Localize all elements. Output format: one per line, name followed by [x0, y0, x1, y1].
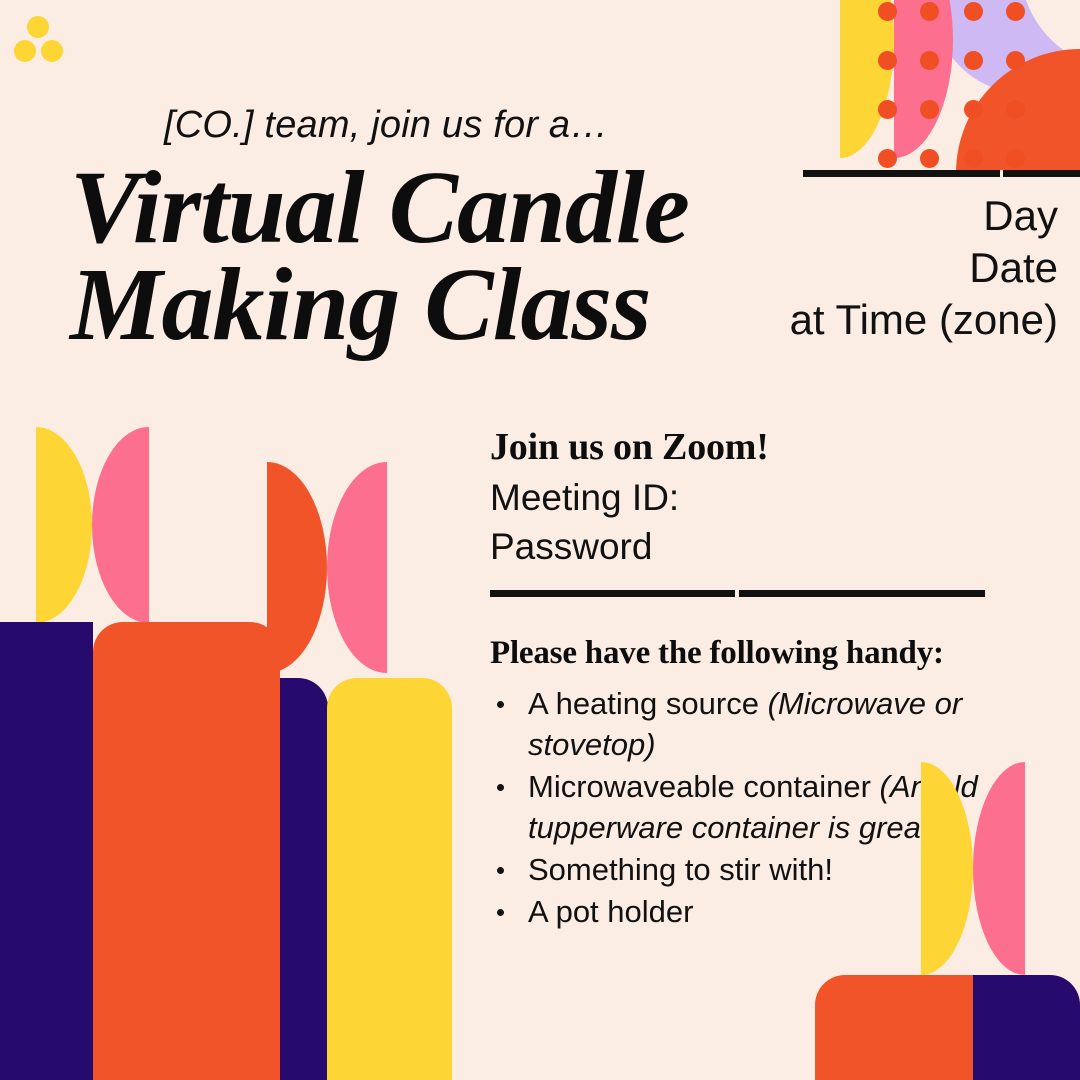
kicker-text: [CO.] team, join us for a…: [164, 104, 608, 147]
section-divider-gap: [735, 590, 739, 597]
candle-body-orange-br: [815, 975, 973, 1080]
grid-dot-icon: [878, 100, 897, 119]
zoom-info-block: Join us on Zoom! Meeting ID: Password: [490, 425, 990, 571]
grid-dot-icon: [964, 51, 983, 70]
grid-dot-icon: [964, 2, 983, 21]
supplies-list: A heating source (Microwave or stovetop)…: [490, 684, 990, 932]
event-date: Date: [790, 242, 1058, 294]
candle-body-orange: [93, 622, 280, 1080]
grid-dot-icon: [878, 51, 897, 70]
candle-body-navy-tall: [0, 622, 93, 1080]
list-item: A heating source (Microwave or stovetop): [490, 684, 990, 766]
supplies-block: Please have the following handy: A heati…: [490, 635, 990, 933]
grid-dot-icon: [964, 149, 983, 168]
grid-dot-icon: [878, 2, 897, 21]
pink-leaf-shape: [894, 0, 953, 158]
grid-dot-icon: [878, 149, 897, 168]
candle-body-yellow: [327, 678, 452, 1080]
candle-flame-second: [267, 462, 387, 673]
grid-dot-icon: [1006, 100, 1025, 119]
logo-dot-bottom-left-icon: [14, 40, 36, 62]
grid-dot-icon: [920, 100, 939, 119]
event-time: at Time (zone): [790, 294, 1058, 346]
list-item: A pot holder: [490, 892, 990, 933]
candle-body-navy-br: [973, 975, 1080, 1080]
event-datetime-block: Day Date at Time (zone): [790, 190, 1058, 346]
list-item: Something to stir with!: [490, 850, 990, 891]
supplies-heading: Please have the following handy:: [490, 635, 990, 672]
yellow-leaf-shape: [840, 0, 894, 158]
zoom-heading: Join us on Zoom!: [490, 425, 990, 469]
grid-dot-icon: [1006, 2, 1025, 21]
grid-dot-icon: [1006, 149, 1025, 168]
flame-half-yellow: [36, 427, 92, 623]
headline-line-2: Making Class: [70, 257, 730, 354]
event-day: Day: [790, 190, 1058, 242]
poster-canvas: [CO.] team, join us for a… Virtual Candl…: [0, 0, 1080, 1080]
flame-half-pink: [327, 462, 387, 673]
candle-flame-bottom-right: [921, 762, 1025, 975]
grid-dot-icon: [920, 51, 939, 70]
zoom-password: Password: [490, 522, 990, 571]
flame-half-pink: [92, 427, 149, 623]
grid-dot-icon: [920, 149, 939, 168]
zoom-meeting-id: Meeting ID:: [490, 473, 990, 522]
flame-half-pink: [973, 762, 1025, 975]
candle-flame-left: [36, 427, 149, 623]
grid-dot-icon: [920, 2, 939, 21]
supply-text: A heating source: [528, 686, 768, 721]
logo-dot-bottom-right-icon: [41, 40, 63, 62]
top-right-divider: [803, 170, 1080, 177]
supply-text: A pot holder: [528, 894, 693, 929]
logo-dot-top-icon: [27, 16, 49, 38]
supply-text: Microwaveable container: [528, 769, 880, 804]
list-item: Microwaveable container (An old tupperwa…: [490, 767, 990, 849]
grid-dot-icon: [964, 100, 983, 119]
headline-line-1: Virtual Candle: [70, 160, 730, 257]
supply-text: Something to stir with!: [528, 852, 833, 887]
flame-half-yellow: [921, 762, 973, 975]
grid-dot-icon: [1006, 51, 1025, 70]
top-right-divider-gap: [1000, 170, 1003, 177]
page-title: Virtual Candle Making Class: [70, 160, 730, 353]
